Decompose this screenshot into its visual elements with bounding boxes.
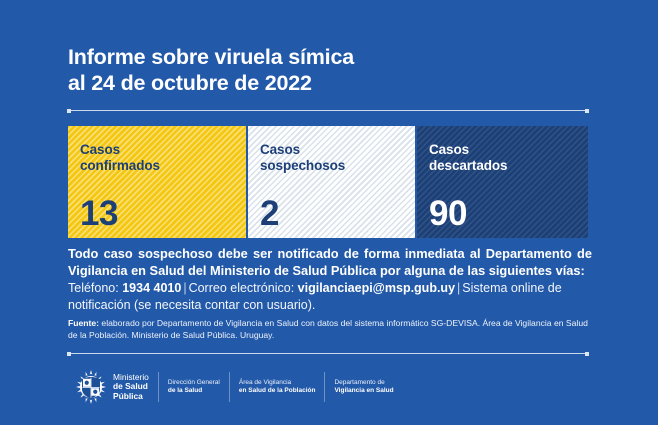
title-line-1: Informe sobre viruela símica <box>68 44 588 70</box>
stats-row: Casos confirmados 13 Casos sospechosos 2… <box>68 126 588 238</box>
email-value[interactable]: vigilanciaepi@msp.gub.uy <box>298 281 455 295</box>
separator-1: | <box>181 281 188 295</box>
notice-block: Todo caso sospechoso debe ser notificado… <box>68 246 592 313</box>
stat-label-confirmed: Casos confirmados <box>80 142 246 173</box>
stat-label-discarded-line2: descartados <box>429 158 588 174</box>
source-label: Fuente: <box>68 318 99 328</box>
footer-unit-0-line1: Dirección General <box>168 379 220 387</box>
footer-unit-area-vigilancia: Área de Vigilancia en Salud de la Poblac… <box>230 379 325 396</box>
stat-label-confirmed-line1: Casos <box>80 142 246 158</box>
stat-value-suspected: 2 <box>260 196 279 232</box>
stat-value-discarded: 90 <box>429 196 467 232</box>
footer-bar: Ministerio de Salud Pública Dirección Ge… <box>76 368 403 406</box>
stat-card-discarded: Casos descartados 90 <box>417 126 588 238</box>
footer-unit-direccion-general: Dirección General de la Salud <box>159 379 229 396</box>
footer-unit-0-line2: de la Salud <box>168 387 220 395</box>
stat-label-suspected: Casos sospechosos <box>260 142 415 173</box>
notice-contact-line: Teléfono: 1934 4010|Correo electrónico: … <box>68 280 592 313</box>
stat-label-discarded: Casos descartados <box>429 142 588 173</box>
stat-label-suspected-line2: sospechosos <box>260 158 415 174</box>
source-note: Fuente: elaborado por Departamento de Vi… <box>68 318 592 341</box>
source-text: elaborado por Departamento de Vigilancia… <box>68 318 588 340</box>
stat-label-confirmed-line2: confirmados <box>80 158 246 174</box>
stat-label-discarded-line1: Casos <box>429 142 588 158</box>
stat-card-confirmed: Casos confirmados 13 <box>68 126 246 238</box>
divider-bottom <box>68 353 588 354</box>
ministry-name: Ministerio de Salud Pública <box>113 373 158 402</box>
page-title: Informe sobre viruela símica al 24 de oc… <box>68 44 588 96</box>
stat-value-confirmed: 13 <box>80 196 118 232</box>
title-line-2: al 24 de octubre de 2022 <box>68 70 588 96</box>
uruguay-coat-of-arms-icon <box>76 370 106 404</box>
phone-value: 1934 4010 <box>122 281 181 295</box>
notice-main-text: Todo caso sospechoso debe ser notificado… <box>68 246 592 279</box>
footer-unit-departamento-vigilancia: Departamento de Vigilancia en Salud <box>325 379 402 396</box>
footer-unit-2-line1: Departamento de <box>334 379 393 387</box>
stat-label-suspected-line1: Casos <box>260 142 415 158</box>
report-poster: Informe sobre viruela símica al 24 de oc… <box>0 0 658 425</box>
email-label: Correo electrónico: <box>189 281 295 295</box>
footer-unit-1-line2: en Salud de la Población <box>239 387 316 395</box>
ministry-name-line3: Pública <box>113 392 149 402</box>
footer-unit-1-line1: Área de Vigilancia <box>239 379 316 387</box>
phone-label: Teléfono: <box>68 281 119 295</box>
divider-top <box>68 110 588 111</box>
footer-unit-2-line2: Vigilancia en Salud <box>334 387 393 395</box>
stat-card-suspected: Casos sospechosos 2 <box>248 126 415 238</box>
